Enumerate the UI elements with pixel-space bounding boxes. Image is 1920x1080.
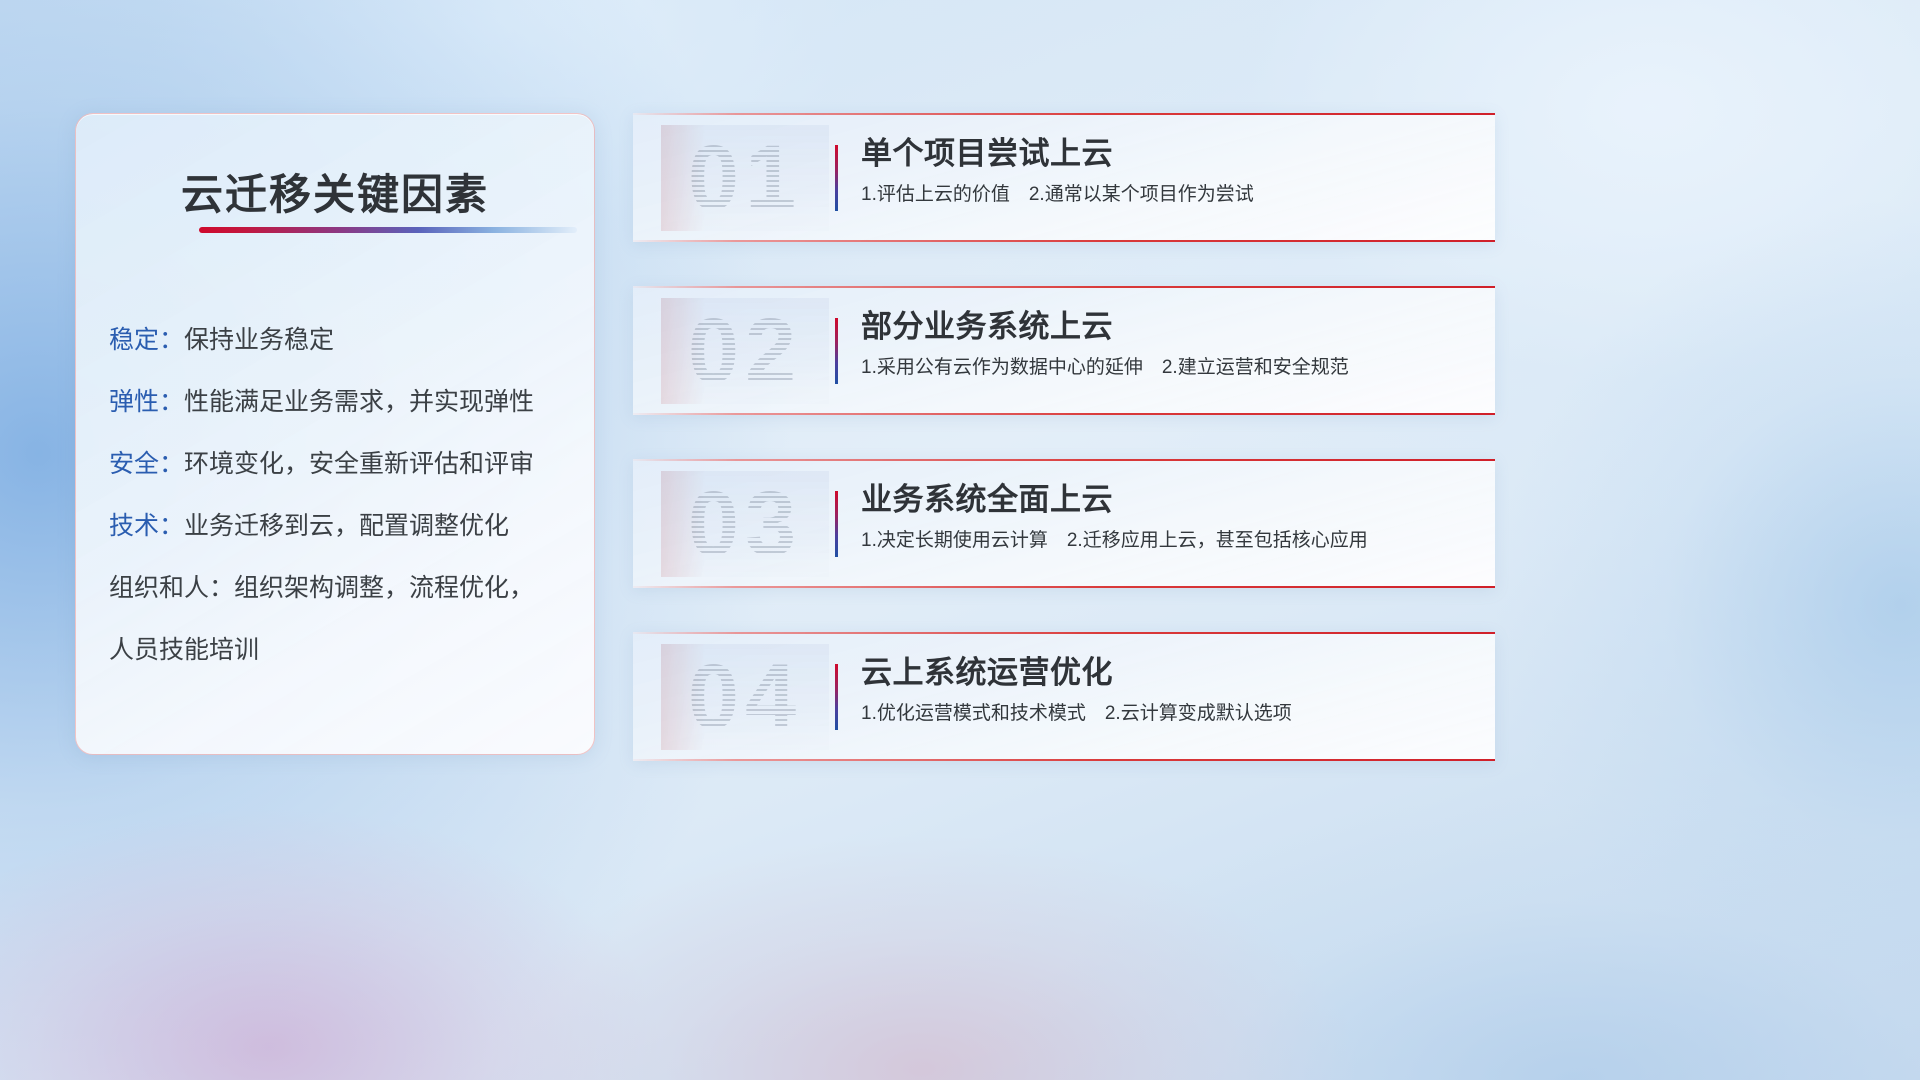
list-item-text: 性能满足业务需求，并实现弹性 <box>184 388 534 416</box>
list-item-text: 人员技能培训 <box>109 636 259 664</box>
stage-card-divider <box>835 664 838 730</box>
list-item: 安全：环境变化，安全重新评估和评审 <box>109 433 572 495</box>
list-item-key: 稳定： <box>109 326 184 354</box>
stage-cards-list: 01 单个项目尝试上云 1.评估上云的价值 2.通常以某个项目作为尝试 02 部… <box>633 113 1495 805</box>
stage-card[interactable]: 03 业务系统全面上云 1.决定长期使用云计算 2.迁移应用上云，甚至包括核心应… <box>633 459 1495 588</box>
list-item: 弹性：性能满足业务需求，并实现弹性 <box>109 371 572 433</box>
stage-card-text: 单个项目尝试上云 1.评估上云的价值 2.通常以某个项目作为尝试 <box>861 133 1475 209</box>
stage-card-divider <box>835 318 838 384</box>
stage-card-divider <box>835 491 838 557</box>
list-item: 技术：业务迁移到云，配置调整优化 <box>109 495 572 557</box>
stage-number-text: 02 <box>661 298 829 404</box>
stage-number-watermark: 01 <box>661 125 829 231</box>
stage-card[interactable]: 02 部分业务系统上云 1.采用公有云作为数据中心的延伸 2.建立运营和安全规范 <box>633 286 1495 415</box>
stage-number-text: 01 <box>661 125 829 231</box>
stage-card-subtitle: 1.决定长期使用云计算 2.迁移应用上云，甚至包括核心应用 <box>861 527 1475 555</box>
stage-card[interactable]: 04 云上系统运营优化 1.优化运营模式和技术模式 2.云计算变成默认选项 <box>633 632 1495 761</box>
stage-card-text: 业务系统全面上云 1.决定长期使用云计算 2.迁移应用上云，甚至包括核心应用 <box>861 479 1475 555</box>
list-item-text: 组织架构调整，流程优化， <box>234 574 534 602</box>
stage-card[interactable]: 01 单个项目尝试上云 1.评估上云的价值 2.通常以某个项目作为尝试 <box>633 113 1495 242</box>
stage-number-watermark: 02 <box>661 298 829 404</box>
list-item-key: 安全： <box>109 450 184 478</box>
stage-card-subtitle: 1.优化运营模式和技术模式 2.云计算变成默认选项 <box>861 700 1475 728</box>
stage-number-watermark: 04 <box>661 644 829 750</box>
stage-card-title: 业务系统全面上云 <box>861 479 1475 521</box>
list-item-text: 环境变化，安全重新评估和评审 <box>184 450 534 478</box>
list-item-key: 弹性： <box>109 388 184 416</box>
stage-card-divider <box>835 145 838 211</box>
stage-number-watermark: 03 <box>661 471 829 577</box>
panel-title-underline <box>199 227 577 233</box>
list-item-key: 技术： <box>109 512 184 540</box>
list-item-text: 保持业务稳定 <box>184 326 334 354</box>
stage-number-text: 03 <box>661 471 829 577</box>
stage-card-title: 单个项目尝试上云 <box>861 133 1475 175</box>
stage-card-title: 部分业务系统上云 <box>861 306 1475 348</box>
stage-card-subtitle: 1.采用公有云作为数据中心的延伸 2.建立运营和安全规范 <box>861 354 1475 382</box>
stage-card-subtitle: 1.评估上云的价值 2.通常以某个项目作为尝试 <box>861 181 1475 209</box>
stage-card-text: 部分业务系统上云 1.采用公有云作为数据中心的延伸 2.建立运营和安全规范 <box>861 306 1475 382</box>
stage-card-text: 云上系统运营优化 1.优化运营模式和技术模式 2.云计算变成默认选项 <box>861 652 1475 728</box>
stage-card-title: 云上系统运营优化 <box>861 652 1475 694</box>
key-factors-panel: 云迁移关键因素 稳定：保持业务稳定 弹性：性能满足业务需求，并实现弹性 安全：环… <box>75 113 595 755</box>
list-item-key: 组织和人： <box>109 574 234 602</box>
panel-title: 云迁移关键因素 <box>76 161 594 222</box>
key-factors-list: 稳定：保持业务稳定 弹性：性能满足业务需求，并实现弹性 安全：环境变化，安全重新… <box>109 309 572 681</box>
list-item: 组织和人：组织架构调整，流程优化， <box>109 557 572 619</box>
stage-number-text: 04 <box>661 644 829 750</box>
list-item: 人员技能培训 <box>109 619 572 681</box>
list-item-text: 业务迁移到云，配置调整优化 <box>184 512 509 540</box>
list-item: 稳定：保持业务稳定 <box>109 309 572 371</box>
